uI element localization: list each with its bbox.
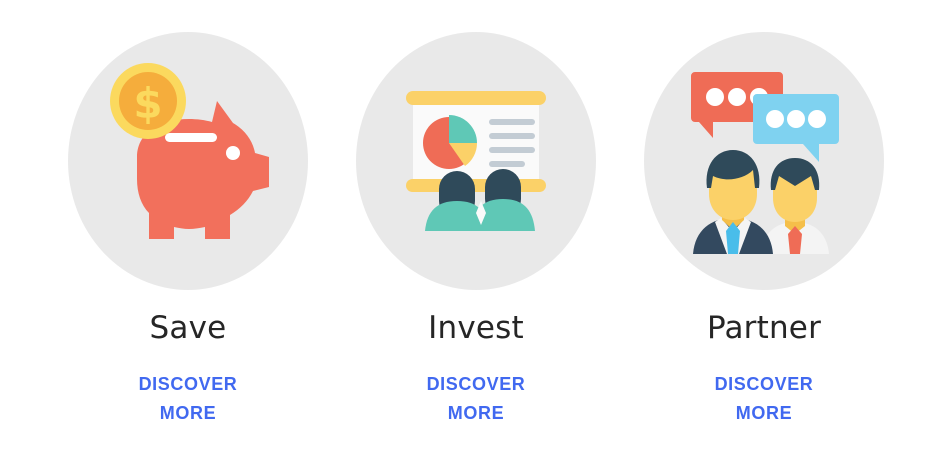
discover-more-link-partner[interactable]: DISCOVER MORE [694,370,834,428]
discover-more-line2: MORE [694,399,834,428]
discover-more-line2: MORE [406,399,546,428]
piggy-bank-icon: $ [93,61,283,261]
icon-circle-partner [644,32,884,290]
feature-cards-row: $ Save DISCOVER MORE [0,0,952,472]
presentation-chart-icon [401,89,551,234]
icon-circle-invest [356,32,596,290]
discover-more-line1: DISCOVER [694,370,834,399]
card-title-invest: Invest [428,313,524,344]
feature-card-invest[interactable]: Invest DISCOVER MORE [332,32,620,428]
feature-card-partner[interactable]: Partner DISCOVER MORE [620,32,908,428]
discover-more-line2: MORE [118,399,258,428]
card-title-partner: Partner [707,313,821,344]
card-title-save: Save [150,313,227,344]
svg-text:$: $ [133,79,162,128]
discover-more-line1: DISCOVER [406,370,546,399]
feature-card-save[interactable]: $ Save DISCOVER MORE [44,32,332,428]
discover-more-link-save[interactable]: DISCOVER MORE [118,370,258,428]
discover-more-link-invest[interactable]: DISCOVER MORE [406,370,546,428]
discover-more-line1: DISCOVER [118,370,258,399]
icon-circle-save: $ [68,32,308,290]
business-people-chat-icon [677,66,852,256]
